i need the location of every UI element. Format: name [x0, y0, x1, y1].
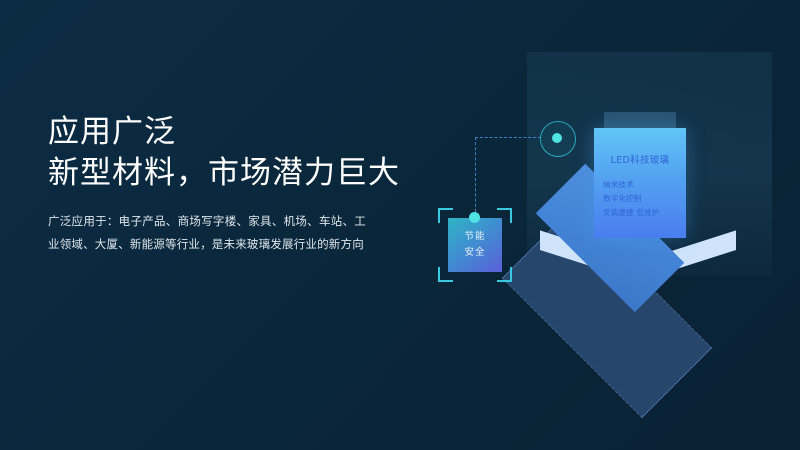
headline-line-2: 新型材料，市场潜力巨大: [48, 152, 448, 194]
connector-line-horizontal: [475, 137, 541, 138]
badge-tile: 节能 安全: [448, 218, 502, 272]
slide-canvas: 应用广泛 新型材料，市场潜力巨大 广泛应用于：电子产品、商场写字楼、家具、机场、…: [0, 0, 800, 450]
panel-feature-item: 安装便捷 低维护: [603, 206, 682, 220]
led-glass-panel: LED科技玻璃 纳米技术 数字化控制 安装便捷 低维护: [594, 128, 686, 238]
feature-badge: 节能 安全: [436, 206, 514, 284]
badge-label: 节能 安全: [448, 229, 502, 261]
panel-feature-list: 纳米技术 数字化控制 安装便捷 低维护: [603, 178, 682, 220]
panel-feature-item: 纳米技术: [603, 178, 682, 192]
connector-line-vertical: [475, 137, 476, 217]
badge-label-line-2: 安全: [448, 245, 502, 261]
panel-title: LED科技玻璃: [594, 152, 686, 166]
node-circle-icon: [540, 121, 576, 157]
illustration: LED科技玻璃 纳米技术 数字化控制 安装便捷 低维护 节能 安全: [420, 0, 800, 450]
badge-label-line-1: 节能: [448, 229, 502, 245]
badge-connector-dot-icon: [469, 212, 480, 223]
body-paragraph: 广泛应用于：电子产品、商场写字楼、家具、机场、车站、工业领域、大厦、新能源等行业…: [48, 210, 366, 256]
text-block: 应用广泛 新型材料，市场潜力巨大 广泛应用于：电子产品、商场写字楼、家具、机场、…: [48, 112, 448, 256]
panel-feature-item: 数字化控制: [603, 192, 682, 206]
headline-line-1: 应用广泛: [48, 112, 448, 152]
node-center-dot-icon: [552, 133, 562, 143]
